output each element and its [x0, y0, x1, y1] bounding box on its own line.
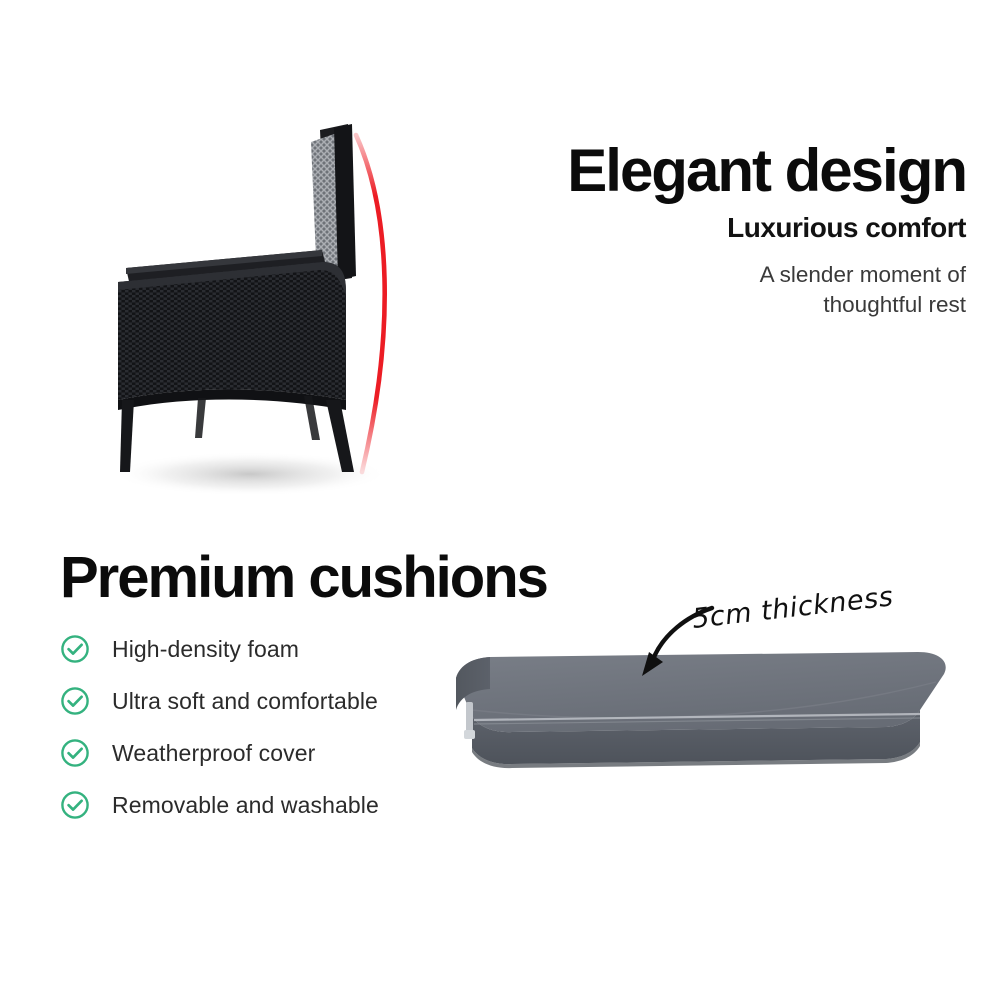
check-circle-icon — [60, 790, 90, 820]
chair-arm-panel — [118, 262, 346, 410]
elegant-body-line-1: A slender moment of — [470, 260, 966, 290]
check-circle-icon — [60, 686, 90, 716]
elegant-subheading: Luxurious comfort — [470, 213, 966, 244]
feature-label: Weatherproof cover — [112, 740, 315, 767]
feature-label: High-density foam — [112, 636, 299, 663]
check-circle-icon — [60, 738, 90, 768]
feature-label: Ultra soft and comfortable — [112, 688, 378, 715]
elegant-design-panel: Elegant design Luxurious comfort A slend… — [470, 140, 966, 319]
elegant-heading: Elegant design — [470, 140, 966, 201]
rattan-armchair-image — [90, 100, 450, 510]
infographic-canvas: Elegant design Luxurious comfort A slend… — [0, 0, 1000, 1000]
red-accent-curve — [356, 135, 385, 472]
feature-label: Removable and washable — [112, 792, 379, 819]
elegant-body-line-2: thoughtful rest — [470, 290, 966, 320]
check-circle-icon — [60, 634, 90, 664]
elegant-body: A slender moment of thoughtful rest — [470, 260, 966, 319]
